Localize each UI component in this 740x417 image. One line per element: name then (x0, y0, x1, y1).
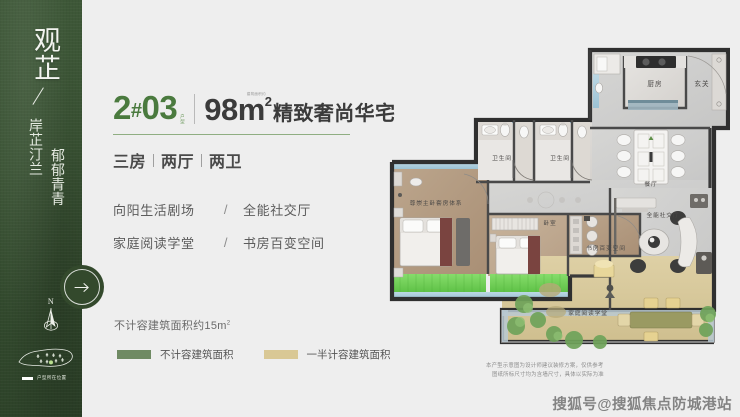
headline-divider (194, 94, 195, 124)
area-unit-text: m (238, 92, 265, 127)
room-label-study: 书房百变空间 (586, 244, 626, 252)
legend-label-uncounted: 不计容建筑面积 (160, 347, 234, 362)
room-spec-bathrooms: 两卫 (209, 148, 242, 172)
watermark: 搜狐号@搜狐焦点防城港站 (552, 393, 732, 414)
bathroom-2-fixtures (536, 122, 592, 180)
unit-code: 2 # 03 户型 (113, 91, 185, 126)
room-label-master-suite: 尊崇主卧套房体系 (410, 199, 463, 207)
area-superscript: 2 (265, 94, 272, 109)
unit-building-number: 2 (113, 91, 131, 124)
floorplan-brochure-page: 观芷 岸芷汀兰 郁郁青青 N (0, 0, 740, 417)
area-number-text: 98 (204, 92, 237, 127)
room-label-bathroom-1: 卫生间 (492, 154, 512, 162)
legend-swatch-tan (264, 350, 298, 359)
dining-fixtures (617, 130, 685, 184)
headline-underline (113, 134, 350, 135)
unit-type-micro-label: 户型 (179, 115, 185, 125)
area-block: 98m建筑面积约 2 精致奢尚华宅 (204, 94, 395, 126)
room-label-dining: 餐厅 (644, 180, 657, 188)
plan-disclaimer-line-1: 本产型示意图为设计师建议装修方案，仅供参考 (486, 362, 604, 371)
room-spec-livingrooms: 两厅 (161, 148, 194, 172)
room-spec-sep-1 (153, 154, 154, 167)
room-spec-bedrooms: 三房 (113, 148, 146, 172)
unit-hash-symbol: # (131, 101, 142, 121)
brand-subtitle: 岸芷汀兰 (24, 118, 44, 176)
feature-separator: / (209, 202, 243, 217)
room-label-entry: 玄关 (694, 79, 709, 88)
room-spec-sep-2 (201, 154, 202, 167)
site-map-legend: 户型所在位置 (22, 375, 66, 381)
area-value: 98m建筑面积约 (204, 94, 265, 125)
brand-title: 观芷 (16, 26, 62, 82)
area-legend: 不计容建筑面积 一半计容建筑面积 (117, 347, 391, 362)
site-map-icon (16, 357, 76, 374)
area-micro-label: 建筑面积约 (247, 93, 266, 97)
feature-row: 向阳生活剧场 / 全能社交厅 (113, 200, 325, 219)
headline: 2 # 03 户型 98m建筑面积约 2 精致奢尚华宅 (113, 84, 395, 126)
feature-separator: / (209, 235, 243, 250)
uncounted-area-note: 不计容建筑面积约15m2 (114, 317, 230, 333)
next-arrow-button[interactable] (64, 269, 100, 305)
feature-left: 家庭阅读学堂 (113, 233, 209, 252)
floorplan-drawing: 厨房 玄关 卫生间 卫生间 餐厅 全能社交厅 尊崇主卧套房体系 卧室 书房百变空… (378, 22, 730, 370)
feature-row: 家庭阅读学堂 / 书房百变空间 (113, 233, 325, 252)
bathroom-1-fixtures (478, 122, 534, 180)
room-label-kitchen: 厨房 (647, 79, 662, 88)
feature-left: 向阳生活剧场 (113, 200, 209, 219)
legend-item-uncounted: 不计容建筑面积 (117, 347, 234, 362)
uncounted-area-note-text: 不计容建筑面积约15m (114, 320, 227, 332)
legend-item-half-counted: 一半计容建筑面积 (264, 347, 391, 362)
room-spec: 三房 两厅 两卫 (113, 148, 242, 172)
brand-tagline: 郁郁青青 (47, 148, 67, 206)
compass-north-label: N (38, 297, 64, 306)
site-map-legend-swatch (22, 377, 33, 380)
compass: N (38, 297, 64, 331)
uncounted-area-note-sup: 2 (227, 320, 231, 326)
site-map (16, 340, 76, 370)
plan-disclaimer: 本产型示意图为设计师建议装修方案，仅供参考 图纸所标尺寸均为含墙尺寸，具体以实际… (486, 362, 604, 381)
legend-swatch-green (117, 350, 151, 359)
bedroom-fixtures (490, 218, 540, 274)
feature-right: 全能社交厅 (243, 200, 311, 219)
feature-right: 书房百变空间 (243, 233, 325, 252)
site-map-legend-label: 户型所在位置 (37, 375, 66, 381)
room-label-bathroom-2: 卫生间 (550, 154, 570, 162)
unit-number: 03 (141, 91, 177, 124)
arrow-right-circle-icon (74, 282, 91, 293)
feature-list: 向阳生活剧场 / 全能社交厅 家庭阅读学堂 / 书房百变空间 (113, 200, 325, 266)
room-label-social-hall: 全能社交厅 (647, 211, 680, 219)
room-label-reading-yard: 家庭阅读学堂 (568, 309, 608, 317)
room-label-bedroom: 卧室 (543, 219, 556, 227)
plan-disclaimer-line-2: 图纸所标尺寸均为含墙尺寸，具体以实际为准 (486, 371, 604, 380)
